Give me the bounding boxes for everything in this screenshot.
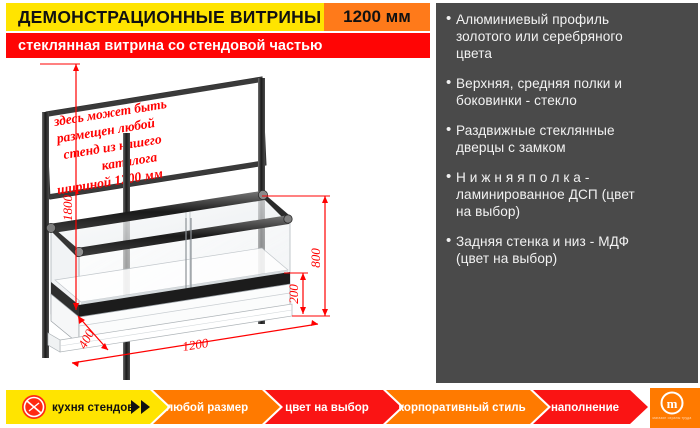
ribbon-segment-label: корпоративный стиль: [398, 402, 525, 414]
feature-text: Верхняя, средняя полки и боковинки - сте…: [456, 75, 622, 109]
brand-logo[interactable]: m магазин охраны труда: [650, 388, 700, 428]
brand-logo-mark: m: [667, 396, 678, 411]
bullet-icon: •: [446, 169, 456, 220]
ribbon-start-label: кухня стендов: [52, 402, 134, 414]
bottom-ribbon: кухня стендов любой размер цвет на выбор…: [0, 386, 700, 428]
list-item: • Алюминиевый профиль золотого или сереб…: [446, 11, 692, 62]
list-item: • Верхняя, средняя полки и боковинки - с…: [446, 75, 692, 109]
list-item: • Н и ж н я я п о л к а - ламинированное…: [446, 169, 692, 220]
header-subtitle-bar: стеклянная витрина со стендовой частью: [6, 33, 430, 58]
ribbon-segment-label: любой размер: [166, 402, 248, 414]
product-drawing: здесь может быть размещен любой стенд из…: [0, 58, 436, 383]
bullet-icon: •: [446, 122, 456, 156]
list-item: • Задняя стенка и низ - МДФ (цвет на выб…: [446, 233, 692, 267]
dimension-value-800: 800: [308, 248, 323, 268]
ribbon-segment-label: наполнение: [551, 402, 619, 414]
dimension-value-1200: 1200: [181, 335, 210, 354]
ribbon-segment-1[interactable]: любой размер: [153, 390, 280, 424]
features-list: • Алюминиевый профиль золотого или сереб…: [446, 11, 692, 280]
brand-logo-caption: магазин охраны труда: [653, 416, 692, 420]
bullet-icon: •: [446, 11, 456, 62]
ribbon-segment-3[interactable]: корпоративный стиль: [386, 390, 548, 424]
list-item: • Раздвижные стеклянные дверцы с замком: [446, 122, 692, 156]
page-title: ДЕМОНСТРАЦИОННЫЕ ВИТРИНЫ: [18, 7, 321, 28]
feature-text: Раздвижные стеклянные дверцы с замком: [456, 122, 615, 156]
no-entry-circle-icon: [22, 395, 46, 419]
feature-text: Н и ж н я я п о л к а - ламинированное Д…: [456, 169, 635, 220]
features-panel: • Алюминиевый профиль золотого или сереб…: [436, 3, 698, 383]
bullet-icon: •: [446, 233, 456, 267]
feature-text: Алюминиевый профиль золотого или серебря…: [456, 11, 623, 62]
ribbon-start-segment[interactable]: кухня стендов: [6, 390, 168, 424]
dimension-value-1800: 1800: [60, 195, 75, 222]
page-subtitle: стеклянная витрина со стендовой частью: [18, 38, 322, 54]
bullet-icon: •: [446, 75, 456, 109]
ribbon-segment-4[interactable]: наполнение: [533, 390, 648, 424]
dimension-value-200: 200: [286, 284, 301, 304]
feature-text: Задняя стенка и низ - МДФ (цвет на выбор…: [456, 233, 629, 267]
ribbon-segment-2[interactable]: цвет на выбор: [265, 390, 401, 424]
size-badge: 1200 мм: [324, 3, 430, 31]
size-badge-label: 1200 мм: [343, 7, 411, 27]
ribbon-segment-label: цвет на выбор: [285, 402, 369, 414]
